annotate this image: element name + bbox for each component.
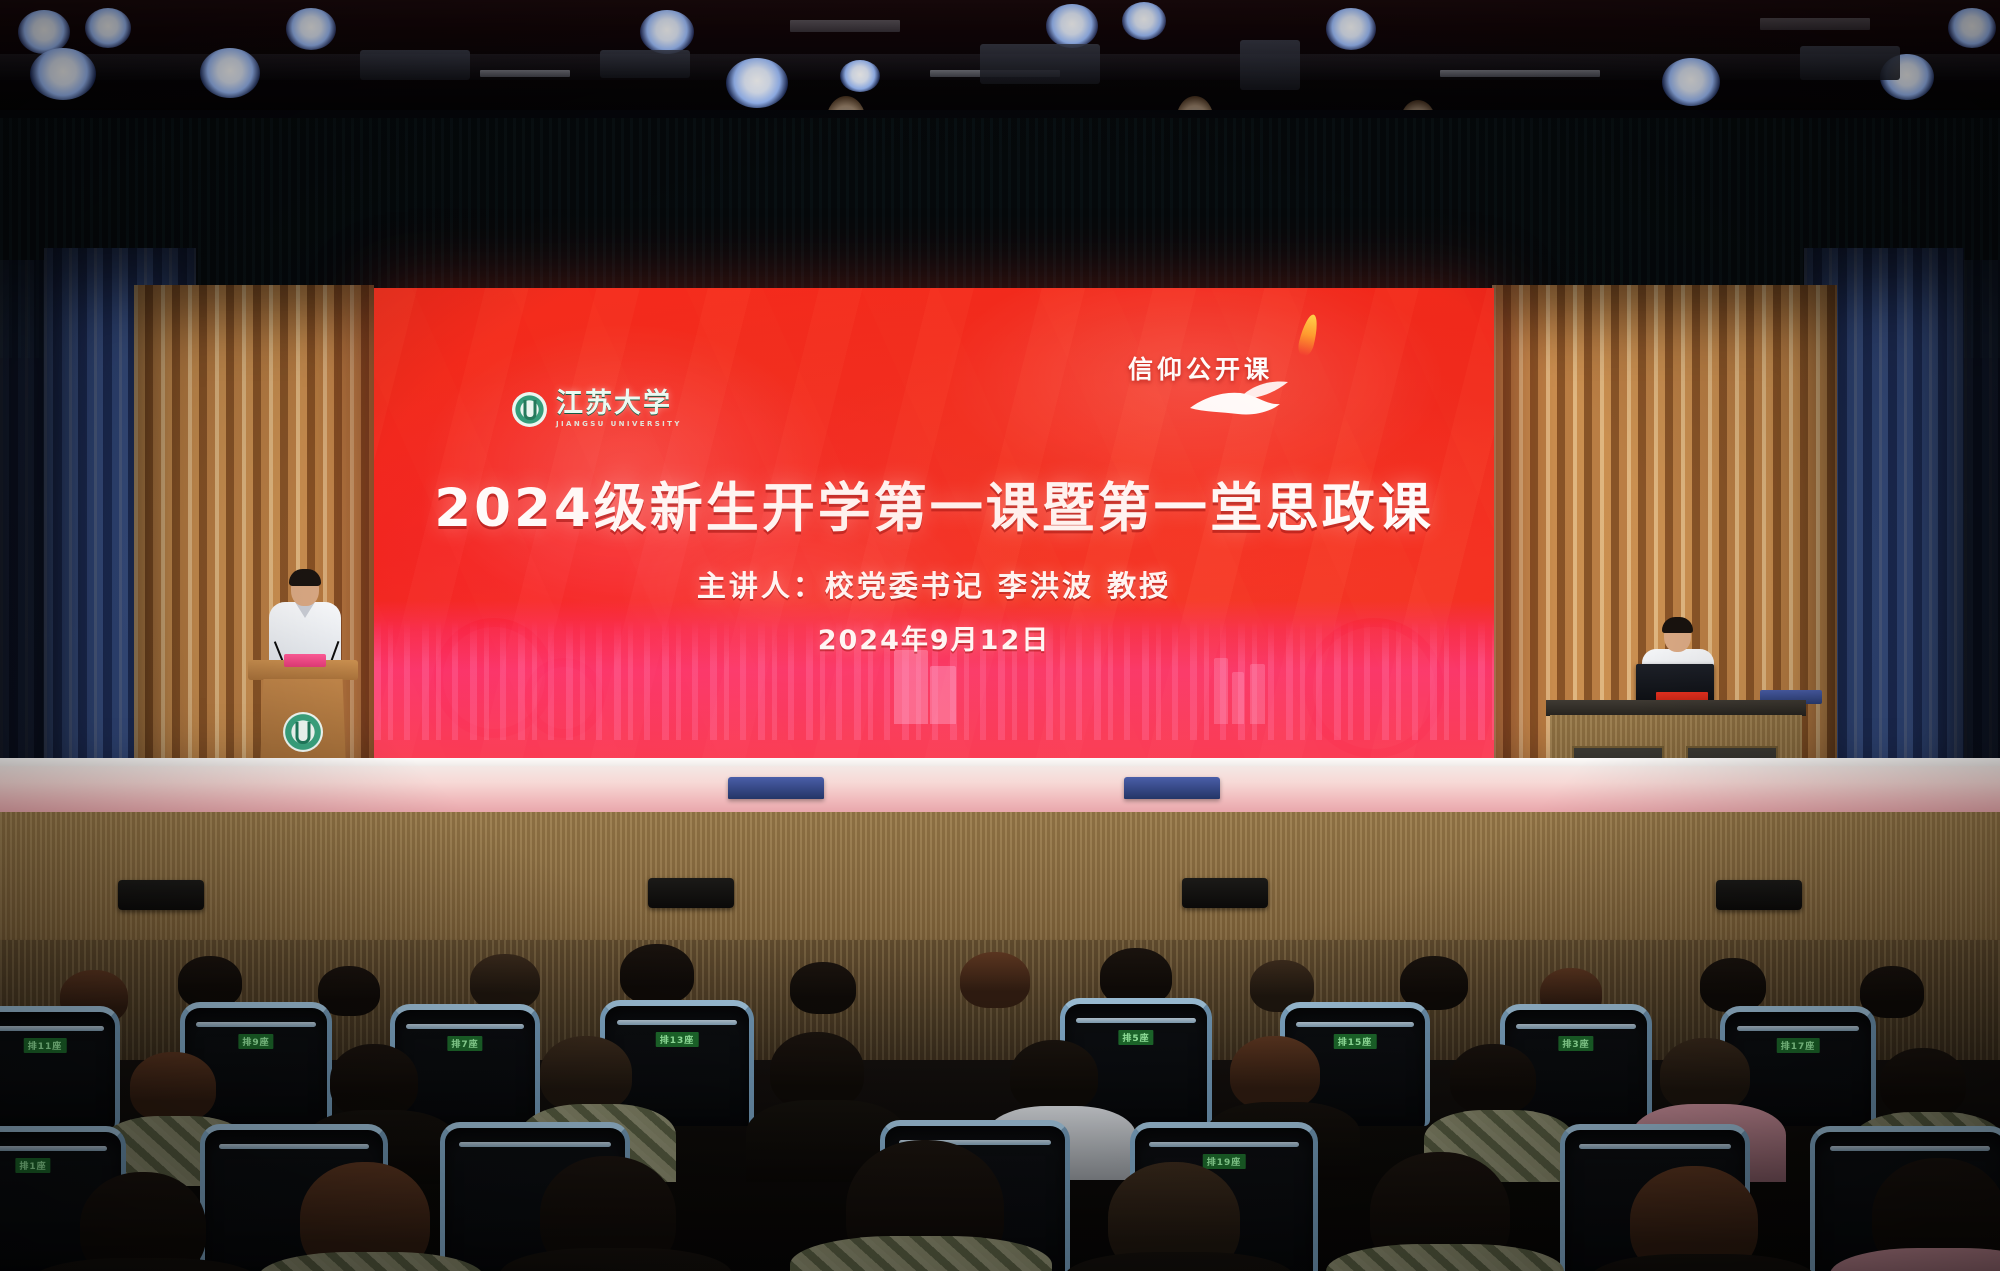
city-tower [1250, 664, 1265, 724]
stage-light [85, 8, 131, 48]
audience-head [620, 944, 694, 1004]
light-fixture-housing [600, 50, 690, 78]
university-seal-icon [512, 392, 547, 427]
presenter-hair [289, 569, 321, 586]
audience-head [790, 962, 856, 1014]
seat-rail [459, 1142, 610, 1147]
audience-head [330, 1044, 418, 1118]
seat-number-label: 排11座 [24, 1038, 67, 1053]
audience-head [1230, 1036, 1320, 1110]
auditorium-scene: 江苏大学 JIANGSU UNIVERSITY 信仰公开课 2024级新生开学第… [0, 0, 2000, 1271]
audience-head [1450, 1044, 1536, 1114]
rig-bar [790, 20, 900, 32]
city-tower [930, 666, 956, 724]
stage-light [1122, 2, 1166, 40]
seat-rail [617, 1020, 738, 1025]
audience-area: 排11座 排9座 排7座 排13座 排5座 排15座 排3座 排17座 [0, 940, 2000, 1271]
seat-rail [406, 1024, 524, 1029]
seat-number-label: 排7座 [447, 1036, 482, 1051]
city-tower [1232, 672, 1244, 724]
seat-rail [1830, 1146, 1990, 1151]
presentation-subtitle: 主讲人：校党委书记 李洪波 教授 [374, 563, 1494, 605]
rig-bar [480, 70, 570, 77]
stage-floor [0, 766, 2000, 814]
led-display-screen: 江苏大学 JIANGSU UNIVERSITY 信仰公开课 2024级新生开学第… [374, 288, 1494, 768]
stage-light [30, 48, 96, 100]
seat-rail [1296, 1022, 1414, 1027]
university-name-cn: 江苏大学 [556, 390, 682, 417]
stage-monitor-speaker [728, 777, 824, 799]
podium-nameplate [284, 654, 326, 667]
stage-monitor-speaker [1124, 777, 1220, 799]
stage-light [286, 8, 336, 50]
stage-light [840, 60, 880, 92]
seat-number-label: 排19座 [1203, 1154, 1246, 1169]
audience-head [770, 1032, 864, 1110]
flame-icon [1296, 313, 1321, 357]
light-fixture-housing [360, 50, 470, 80]
seat-number-label: 排13座 [656, 1032, 699, 1047]
audience-head [1880, 1048, 1966, 1118]
audience-shoulders-foreground [1326, 1244, 1564, 1271]
seat-rail [1516, 1024, 1635, 1029]
stage-light [726, 58, 788, 108]
presentation-title: 2024级新生开学第一课暨第一堂思政课 [374, 466, 1494, 542]
university-emblem-icon [283, 712, 323, 752]
stage-light [1948, 8, 1996, 48]
seat-rail [1579, 1144, 1730, 1149]
dove-icon [1184, 374, 1304, 422]
seat-number-label: 排1座 [15, 1158, 50, 1173]
stage-light [1326, 8, 1376, 50]
rig-bar [1440, 70, 1600, 77]
side-curtain-blue-outer-left [0, 260, 44, 808]
wall-speaker [1182, 878, 1268, 908]
audience-seat: 排11座 [0, 1006, 120, 1126]
podium [248, 660, 358, 768]
audience-head [1660, 1038, 1750, 1112]
stage-light [1662, 58, 1720, 106]
seat-number-label: 排5座 [1118, 1030, 1153, 1045]
audience-head [1860, 966, 1924, 1018]
rig-bar [1760, 18, 1870, 30]
stage-light [1046, 4, 1098, 48]
wall-speaker [648, 878, 734, 908]
audience-head [470, 954, 540, 1010]
seat-rail [1737, 1026, 1860, 1031]
audience-head-foreground [80, 1172, 206, 1271]
city-tower [1214, 658, 1228, 724]
seat-number-label: 排17座 [1777, 1038, 1820, 1053]
light-fixture-housing [1240, 40, 1300, 90]
operator-hair [1662, 617, 1693, 633]
ceiling-lighting-rig [0, 0, 2000, 118]
light-fixture-housing [1800, 46, 1900, 80]
seat-rail [1149, 1142, 1299, 1147]
stage-light [640, 10, 694, 54]
audience-head [130, 1052, 216, 1122]
course-badge: 信仰公开课 [1122, 314, 1382, 424]
stage-light [200, 48, 260, 98]
audience-head [540, 1036, 632, 1112]
audience-head [1700, 958, 1766, 1012]
wall-speaker [118, 880, 204, 910]
stage-apron-paneling [0, 812, 2000, 958]
presentation-date: 2024年9月12日 [374, 618, 1494, 657]
light-fixture-housing [980, 44, 1100, 84]
seat-number-label: 排3座 [1558, 1036, 1593, 1051]
seat-number-label: 排15座 [1334, 1034, 1377, 1049]
university-logo: 江苏大学 JIANGSU UNIVERSITY [512, 390, 682, 428]
audience-head [960, 952, 1030, 1008]
audience-head [178, 956, 242, 1008]
university-name-en: JIANGSU UNIVERSITY [556, 420, 682, 428]
seat-number-label: 排9座 [238, 1034, 273, 1049]
audience-head [1010, 1040, 1098, 1112]
side-curtain-blue-outer-right [1964, 260, 2000, 808]
seat-rail [0, 1026, 104, 1031]
city-tower [894, 650, 928, 724]
wall-speaker [1716, 880, 1802, 910]
desk-top-surface [1546, 700, 1806, 716]
seat-rail [0, 1146, 107, 1151]
seat-rail [1076, 1018, 1195, 1023]
seat-rail [219, 1144, 369, 1149]
seat-rail [196, 1022, 315, 1027]
